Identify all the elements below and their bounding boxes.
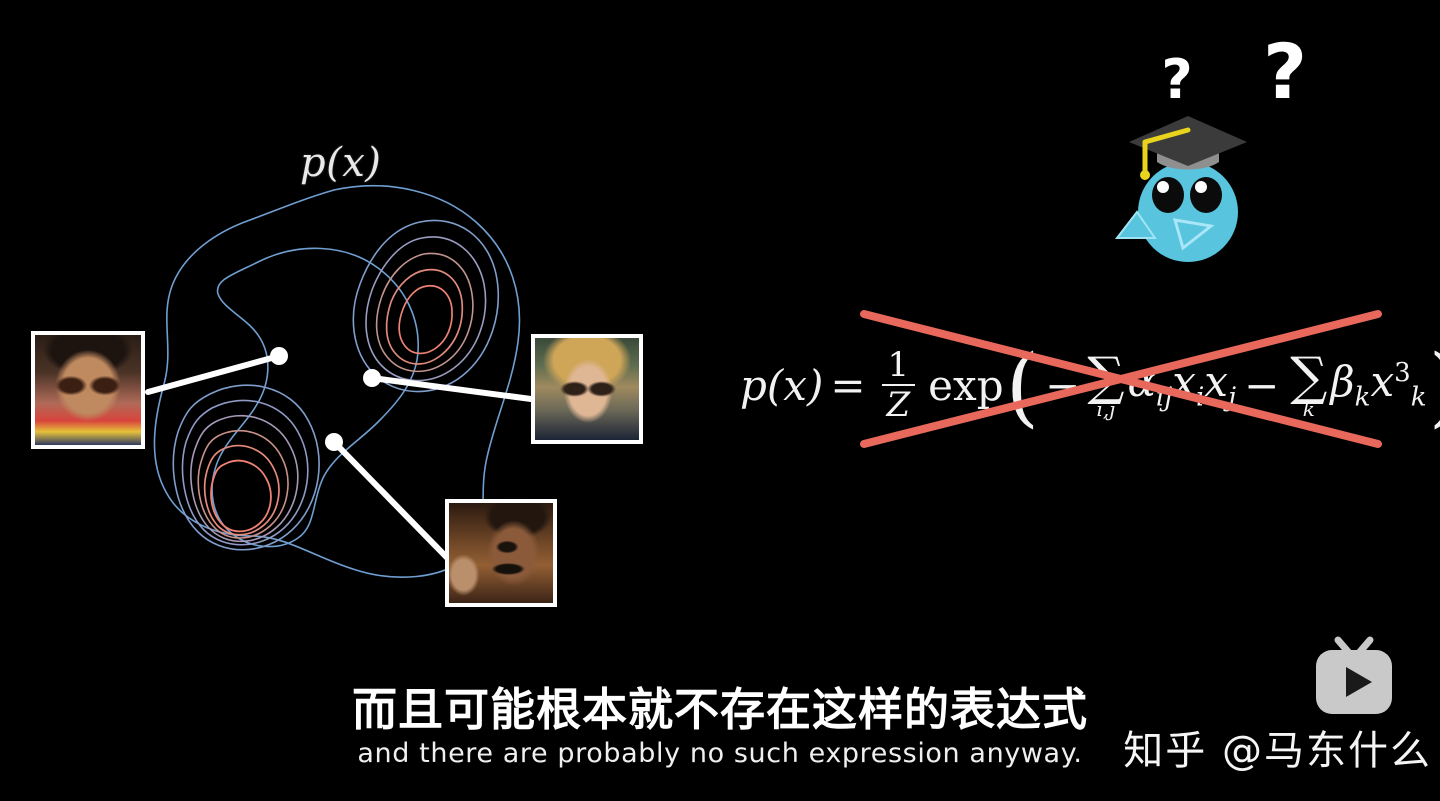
mascot-cap-tassel-knot <box>1140 170 1150 180</box>
equation-strikeout <box>740 322 1390 482</box>
mascot-svg: ? ? <box>1095 20 1345 270</box>
mascot-eye-left <box>1152 177 1184 213</box>
probability-equation: p(x) = 1 Z exp ( − ∑ i,j αij xi xj − ∑ k… <box>740 322 1390 442</box>
sample-photo-woman-image <box>535 338 639 440</box>
connector-line-man <box>334 442 462 573</box>
sample-photo-child-image <box>35 335 141 445</box>
sample-dot-child <box>270 347 288 365</box>
watermark: 知乎 @马东什么 <box>1080 636 1432 768</box>
sample-photo-man <box>445 499 557 607</box>
zhihu-video-play-icon <box>1308 636 1400 718</box>
mascot-eye-right <box>1190 177 1222 213</box>
mascot-eye-right-highlight <box>1195 181 1207 193</box>
sample-dot-man <box>325 433 343 451</box>
question-mark-small-icon: ? <box>1161 48 1192 111</box>
sample-dot-woman <box>363 369 381 387</box>
mascot-eye-left-highlight <box>1157 181 1169 193</box>
connector-line-child <box>148 356 279 392</box>
graduate-mascot: ? ? <box>1095 20 1345 270</box>
video-frame: p(x) p(x) = 1 Z exp ( − ∑ <box>0 0 1440 801</box>
sample-photo-man-image <box>449 503 553 603</box>
sample-photo-child <box>31 331 145 449</box>
connector-line-woman <box>372 378 531 399</box>
mascot-body <box>1138 162 1238 262</box>
sample-photo-woman <box>531 334 643 444</box>
paren-close: ) <box>1428 361 1440 414</box>
watermark-text: 知乎 @马东什么 <box>1080 718 1432 776</box>
question-mark-large-icon: ? <box>1263 27 1307 116</box>
